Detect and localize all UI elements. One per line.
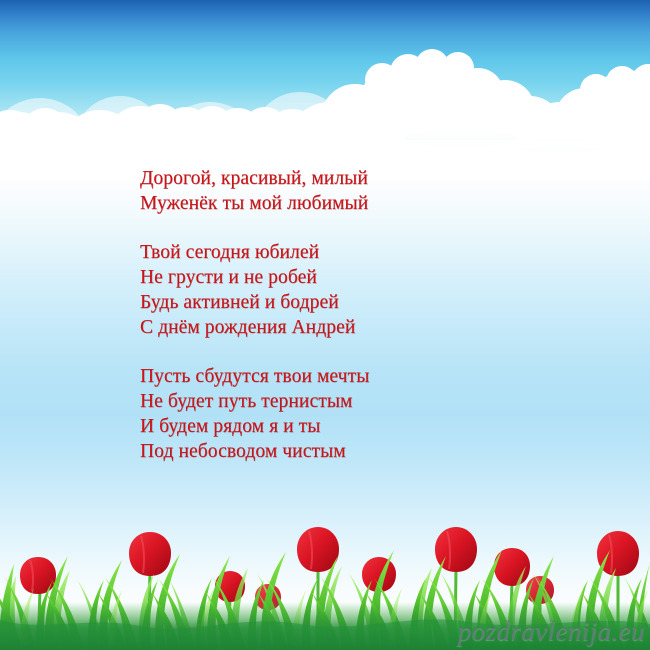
poem-line: С днём рождения Андрей bbox=[140, 315, 560, 340]
poem-line: Не будет путь тернистым bbox=[140, 389, 560, 414]
poem-text: Дорогой, красивый, милый Муженёк ты мой … bbox=[140, 166, 560, 464]
poem-line: Муженёк ты мой любимый bbox=[140, 191, 560, 216]
poem-line: Не грусти и не робей bbox=[140, 265, 560, 290]
cloud-icon bbox=[0, 0, 650, 180]
poem-stanza: Твой сегодня юбилей Не грусти и не робей… bbox=[140, 240, 560, 340]
poem-line: Под небосводом чистым bbox=[140, 439, 560, 464]
poem-line: И будем рядом я и ты bbox=[140, 414, 560, 439]
poem-line: Твой сегодня юбилей bbox=[140, 240, 560, 265]
greeting-card: Дорогой, красивый, милый Муженёк ты мой … bbox=[0, 0, 650, 650]
poem-line: Будь активней и бодрей bbox=[140, 290, 560, 315]
poem-line: Пусть сбудутся твои мечты bbox=[140, 364, 560, 389]
poem-stanza: Пусть сбудутся твои мечты Не будет путь … bbox=[140, 364, 560, 464]
sky-cloud-band bbox=[0, 0, 650, 180]
poem-stanza: Дорогой, красивый, милый Муженёк ты мой … bbox=[140, 166, 560, 216]
poem-line: Дорогой, красивый, милый bbox=[140, 166, 560, 191]
watermark: pozdravlenija.eu bbox=[458, 616, 645, 647]
